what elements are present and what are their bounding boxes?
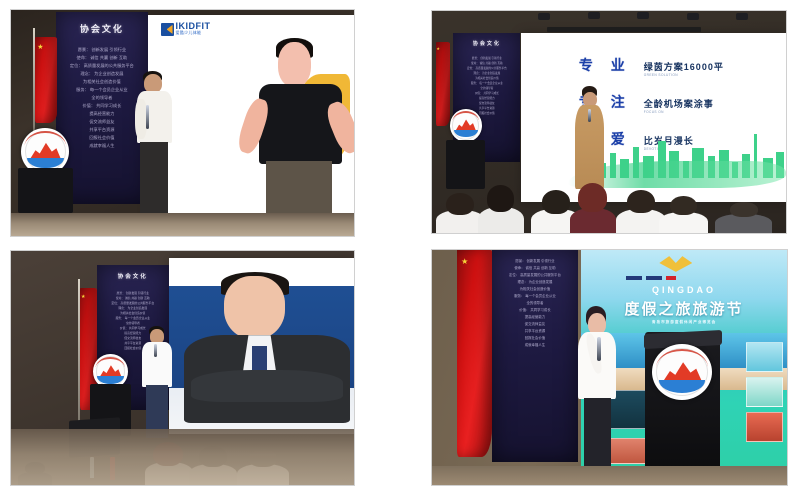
ikidfit-mark-icon — [161, 23, 174, 36]
poster-english-title: QINGDAO — [581, 285, 787, 295]
stage-floor — [11, 429, 354, 485]
sponsor-mark-icon — [626, 276, 642, 280]
banner-line: 促交流师益友 — [61, 119, 143, 125]
banner-line-list: 愿景： 创新发展 引领行业 使命： 诚信 共赢 创新 互助 定位： 高质量发展的… — [497, 258, 572, 347]
audience-head — [730, 202, 758, 217]
chinese-flag: ★ — [457, 250, 493, 457]
banner-line: 促交流师益友 — [497, 321, 572, 326]
banner-line: 价值： 共同学习成长 — [61, 103, 143, 109]
banner-line: 理念： 为企业创造发展 — [61, 71, 143, 77]
projector-screen — [169, 258, 354, 434]
banner-line: 共享平台资源 — [61, 127, 143, 133]
microphone — [154, 344, 157, 357]
banner-line-list: 愿景： 创新发展 引领行业 使命： 诚信 共赢 创新 互助 定位： 高质量发展的… — [61, 47, 143, 149]
model-head — [278, 42, 311, 88]
projector-screen: IKIDFIT 爱酷少儿体能 — [148, 15, 354, 214]
slide-pinyin: GREEN SOLUTION — [644, 73, 724, 77]
stage-floor — [432, 466, 787, 485]
ceiling-light-icon — [736, 13, 748, 20]
speaker-trousers — [140, 142, 168, 225]
banner-line: 全的领导者 — [101, 321, 164, 325]
portrait-folded-arms — [191, 370, 343, 402]
banner-line: 全的领导者 — [497, 300, 572, 305]
banner-line: 服务： 每一个会员企业从业 — [497, 293, 572, 298]
ceiling-light-icon — [637, 12, 649, 19]
podium-box — [18, 168, 73, 213]
audience-head — [670, 196, 697, 216]
audience-member — [570, 180, 616, 233]
audience-row — [432, 175, 786, 233]
banner-line: 理念： 为企业创造发展 — [457, 71, 516, 75]
ceiling-light-icon — [687, 13, 699, 20]
banner-line: 使命： 诚信 共赢 创新 互助 — [457, 61, 516, 65]
stage-speaker — [574, 86, 606, 188]
banner-line: 使命： 诚信 共赢 创新 互助 — [61, 55, 143, 61]
audience-member — [659, 195, 709, 233]
banner-line: 定位： 高质量发展的公共服务平台 — [457, 66, 516, 70]
audience-head — [487, 185, 514, 211]
banner-line: 提高经营能力 — [457, 96, 516, 100]
banner-line: 理念： 为企业创造发展 — [101, 306, 164, 310]
poster-eagle-icon — [659, 252, 692, 272]
banner-line: 定位： 高质量发展的公共服务平台 — [61, 63, 143, 69]
ceiling-light-icon — [538, 13, 550, 20]
stage-speaker — [141, 326, 172, 438]
microphone — [146, 105, 149, 130]
association-emblem — [450, 109, 482, 142]
banner-title: 协会文化 — [453, 40, 520, 47]
audience-head — [578, 183, 607, 212]
banner-line: 服务： 每一个会员企业从业 — [101, 316, 164, 320]
culture-banner: 愿景： 创新发展 引领行业 使命： 诚信 共赢 创新 互助 定位： 高质量发展的… — [492, 250, 577, 462]
banner-line: 愿景： 创新发展 引领行业 — [61, 47, 143, 53]
flag-star-icon: ★ — [436, 47, 440, 51]
banner-line: 促交流师益友 — [457, 101, 516, 105]
poster-sponsor-row — [626, 276, 766, 279]
scene-bottom-left: 协会文化 愿景： 创新发展 引领行业 使命： 诚信 共赢 创新 互助 定位： 高… — [11, 251, 354, 485]
slide-pinyin: FOCUS ON — [644, 110, 714, 114]
photo-top-right[interactable]: 专 业 绿茵方案16000平 GREEN SOLUTION 专 注 全龄机场案涂… — [432, 11, 786, 233]
banner-line: 共享平台资源 — [497, 328, 572, 333]
slide-desc-block: 绿茵方案16000平 GREEN SOLUTION — [644, 60, 724, 77]
banner-line: 定位： 高质量发展的公共服务平台 — [497, 272, 572, 277]
photo-top-left[interactable]: IKIDFIT 爱酷少儿体能 协会文化 愿景： — [11, 10, 354, 236]
ceiling-light-icon — [588, 12, 600, 19]
banner-line: 为相关社会创造价值 — [457, 76, 516, 80]
audience-member — [715, 201, 772, 233]
banner-line-list: 愿景： 创新发展 引领行业 使命： 诚信 共赢 创新 互助 定位： 高质量发展的… — [457, 56, 516, 115]
banner-title: 协会文化 — [97, 272, 169, 280]
slide-desc-block: 全龄机场案涂事 FOCUS ON — [644, 97, 714, 114]
scene-top-right: 专 业 绿茵方案16000平 GREEN SOLUTION 专 注 全龄机场案涂… — [432, 11, 786, 233]
slide-model-photo — [249, 38, 346, 213]
banner-line: 定位： 高质量发展的公共服务平台 — [101, 301, 164, 305]
banner-title: 协会文化 — [56, 22, 149, 35]
scene-top-left: IKIDFIT 爱酷少儿体能 协会文化 愿景： — [11, 10, 354, 236]
photo-bottom-right[interactable]: QINGDAO 度假之旅旅游节 青岛市旅游度假休闲产业博览会 愿景： 创新发展 … — [432, 250, 787, 485]
banner-line: 价值： 共同学习成长 — [497, 307, 572, 312]
banner-line: 成就幸福人生 — [497, 342, 572, 347]
microphone — [588, 109, 591, 122]
banner-line: 回报社会价值 — [497, 335, 572, 340]
banner-line: 愿景： 创新发展 引领行业 — [101, 291, 164, 295]
slide-keyword: 专 业 — [579, 55, 632, 75]
ikidfit-subtitle: 爱酷少儿体能 — [176, 31, 211, 36]
photo-bottom-left[interactable]: 协会文化 愿景： 创新发展 引领行业 使命： 诚信 共赢 创新 互助 定位： 高… — [11, 251, 354, 485]
flag-star-icon: ★ — [461, 258, 468, 266]
stage-speaker — [578, 306, 617, 475]
photo-grid: IKIDFIT 爱酷少儿体能 协会文化 愿景： — [0, 0, 800, 492]
banner-line: 服务： 每一个会员企业从业 — [457, 81, 516, 85]
ikidfit-logo: IKIDFIT 爱酷少儿体能 — [161, 22, 211, 36]
poster-thumbnail — [746, 412, 783, 443]
banner-line: 理念： 为企业创造发展 — [497, 279, 572, 284]
slide-description: 全龄机场案涂事 — [644, 97, 714, 110]
banner-line: 成就幸福人生 — [61, 143, 143, 149]
chinese-flag: ★ — [436, 42, 450, 126]
stage-speaker — [134, 71, 172, 225]
stage-floor — [11, 213, 354, 236]
speaker-trousers — [584, 398, 611, 476]
banner-line: 为相关社会创造价值 — [61, 79, 143, 85]
poster-thumbnail — [746, 342, 783, 373]
flag-star-icon: ★ — [37, 44, 43, 51]
audience-head — [446, 193, 474, 216]
banner-line: 愿景： 创新发展 引领行业 — [457, 56, 516, 60]
banner-line: 使命： 诚信 共赢 创新 互助 — [497, 265, 572, 270]
banner-line: 服务： 每一个会员企业从业 — [61, 87, 143, 93]
banner-line: 愿景： 创新发展 引领行业 — [497, 258, 572, 263]
banner-line: 回报社会价值 — [61, 135, 143, 141]
banner-line: 提高经营能力 — [61, 111, 143, 117]
banner-line: 为相关社会创造价值 — [497, 286, 572, 291]
banner-line: 价值： 共同学习成长 — [457, 91, 516, 95]
scene-bottom-right: QINGDAO 度假之旅旅游节 青岛市旅游度假休闲产业博览会 愿景： 创新发展 … — [432, 250, 787, 485]
speaker-head — [144, 74, 162, 92]
slide-row: 专 业 绿茵方案16000平 GREEN SOLUTION — [579, 55, 724, 77]
banner-line: 使命： 诚信 共赢 创新 互助 — [101, 296, 164, 300]
banner-line: 提高经营能力 — [497, 314, 572, 319]
poster-thumbnail — [746, 377, 783, 408]
banner-line: 全的领导者 — [457, 86, 516, 90]
slide-description: 绿茵方案16000平 — [644, 60, 724, 73]
screen-top-bar — [547, 27, 701, 32]
sponsor-mark-icon — [646, 276, 662, 280]
microphone — [597, 337, 601, 361]
sponsor-mark-red-icon — [666, 276, 676, 280]
flag-star-icon: ★ — [81, 295, 85, 300]
banner-line: 为相关社会创造价值 — [101, 311, 164, 315]
portrait-face — [224, 276, 285, 339]
speaker-arm — [135, 99, 146, 139]
audience-head — [542, 190, 570, 214]
audience-member — [478, 182, 524, 233]
chinese-flag: ★ — [35, 37, 57, 123]
audience-head — [627, 190, 655, 213]
banner-line: 全的领导者 — [61, 95, 143, 101]
model-trousers — [266, 161, 332, 214]
